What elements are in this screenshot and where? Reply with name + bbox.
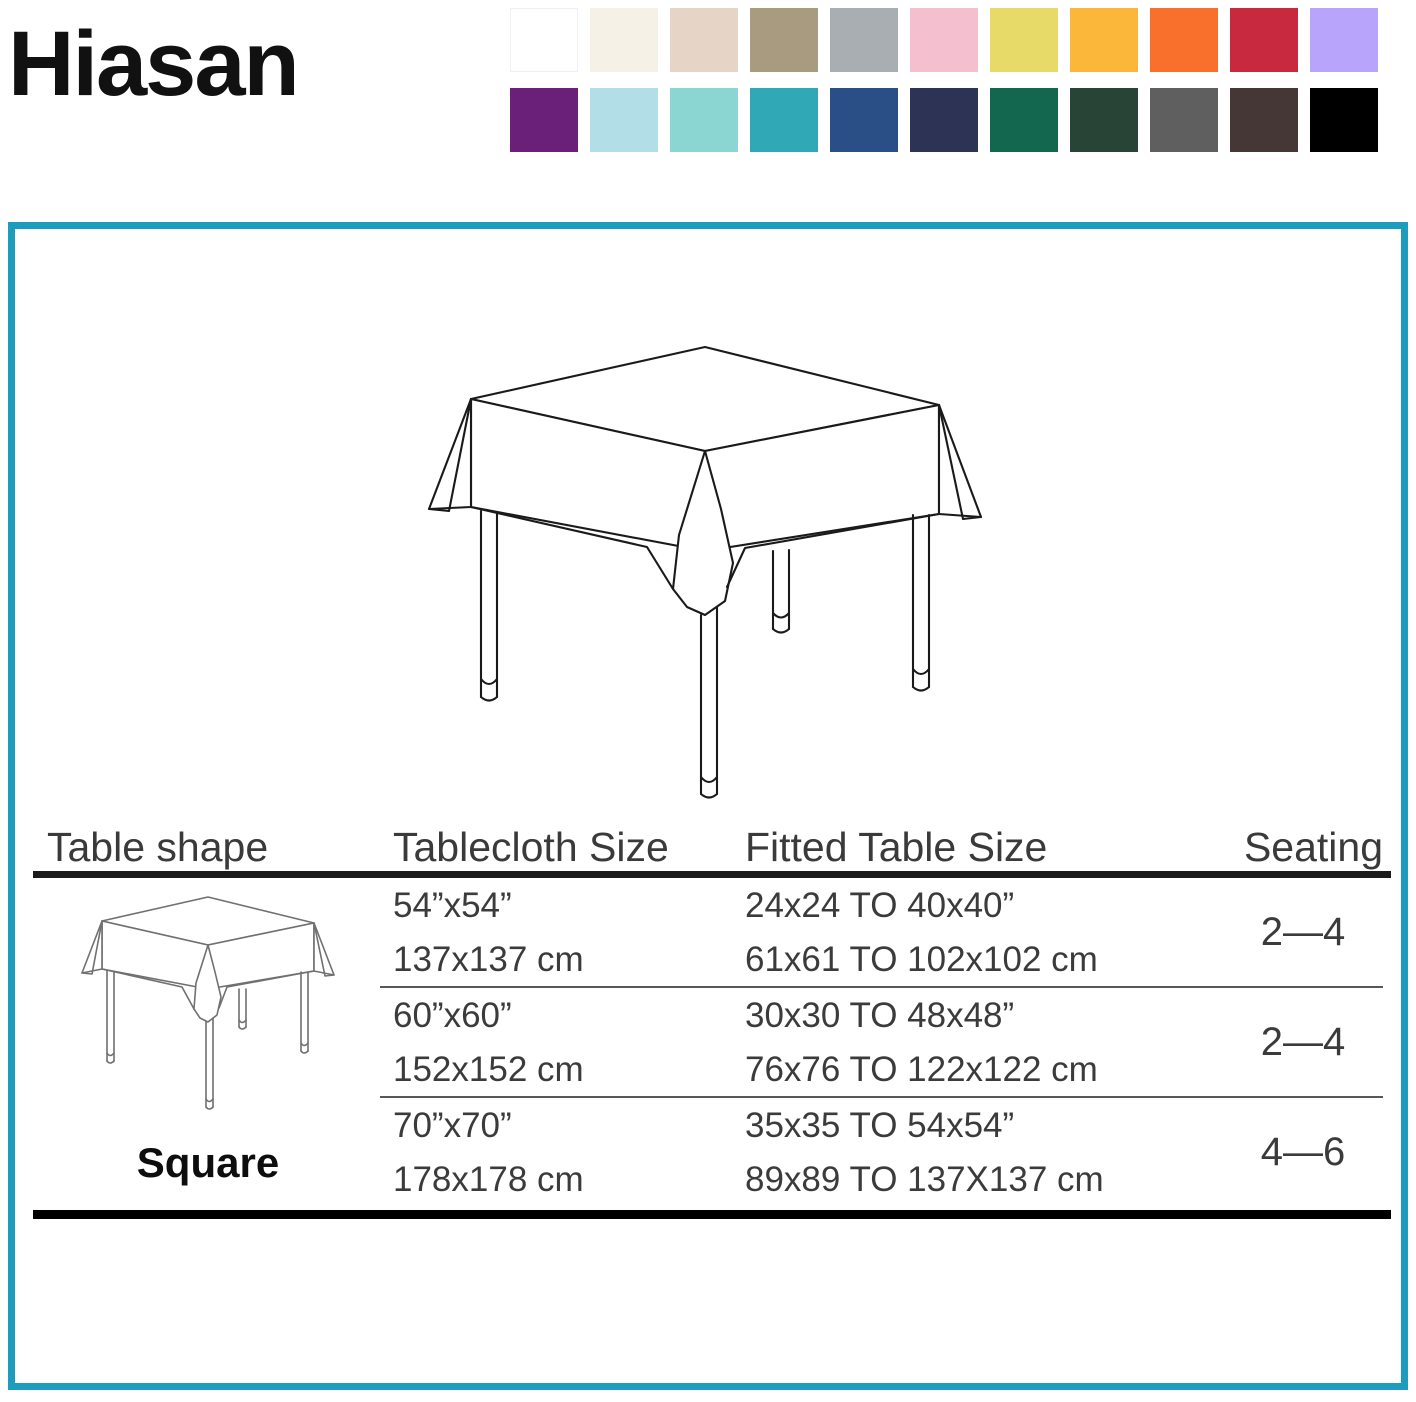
column-header-table-shape: Table shape [47,824,268,871]
color-swatch-hunter-green[interactable] [1070,88,1138,152]
cell-fitted-table-size: 35x35 TO 54x54”89x89 TO 137X137 cm [745,1104,1205,1204]
swatch-row-1 [510,8,1410,72]
table-row: 54”x54”137x137 cm24x24 TO 40x40”61x61 TO… [33,878,1391,986]
color-swatch-lavender[interactable] [1310,8,1378,72]
color-swatch-teal[interactable] [750,88,818,152]
table-header-divider [33,871,1391,878]
tablecloth-size-cm: 137x137 cm [393,940,584,980]
color-swatch-light-yellow[interactable] [990,8,1058,72]
table-body: Square 54”x54”137x137 cm24x24 TO 40x40”6… [33,878,1391,1210]
size-spec-table: Table shape Tablecloth Size Fitted Table… [33,809,1391,1219]
color-swatch-aqua[interactable] [670,88,738,152]
tablecloth-size-cm: 152x152 cm [393,1050,584,1090]
table-rows-host: 54”x54”137x137 cm24x24 TO 40x40”61x61 TO… [33,878,1391,1210]
color-swatch-orange[interactable] [1150,8,1218,72]
fitted-size-inches: 24x24 TO 40x40” [745,886,1014,926]
color-swatch-espresso-brown[interactable] [1230,88,1298,152]
square-table-with-draped-tablecloth-icon [415,339,995,809]
color-swatch-emerald-green[interactable] [990,88,1058,152]
color-swatch-white[interactable] [510,8,578,72]
header-bar: Hiasan [0,0,1416,200]
tablecloth-size-inches: 60”x60” [393,996,512,1036]
color-swatch-black[interactable] [1310,88,1378,152]
table-header-row: Table shape Tablecloth Size Fitted Table… [33,809,1391,871]
table-row: 70”x70”178x178 cm35x35 TO 54x54”89x89 TO… [33,1098,1391,1210]
color-swatch-baby-blue[interactable] [590,88,658,152]
color-swatch-taupe[interactable] [750,8,818,72]
brand-logo: Hiasan [8,18,298,110]
tablecloth-size-inches: 70”x70” [393,1106,512,1146]
column-header-fitted-table-size: Fitted Table Size [745,824,1047,871]
fitted-size-cm: 61x61 TO 102x102 cm [745,940,1098,980]
color-swatch-purple[interactable] [510,88,578,152]
fitted-size-inches: 35x35 TO 54x54” [745,1106,1014,1146]
cell-tablecloth-size: 70”x70”178x178 cm [393,1104,733,1204]
swatch-row-2 [510,88,1410,152]
color-swatch-red[interactable] [1230,8,1298,72]
cell-fitted-table-size: 24x24 TO 40x40”61x61 TO 102x102 cm [745,884,1205,984]
fitted-size-inches: 30x30 TO 48x48” [745,996,1014,1036]
color-swatch-blush-pink[interactable] [910,8,978,72]
column-header-seating: Seating [1244,824,1383,871]
color-swatch-navy-blue[interactable] [830,88,898,152]
info-panel-frame: Table shape Tablecloth Size Fitted Table… [8,222,1408,1390]
color-swatch-grid [510,8,1410,168]
color-swatch-ivory[interactable] [590,8,658,72]
cell-seating: 2—4 [1218,878,1388,986]
cell-tablecloth-size: 60”x60”152x152 cm [393,994,733,1094]
fitted-size-cm: 89x89 TO 137X137 cm [745,1160,1104,1200]
tablecloth-size-inches: 54”x54” [393,886,512,926]
color-swatch-dark-gray[interactable] [1150,88,1218,152]
color-swatch-gold-yellow[interactable] [1070,8,1138,72]
square-table-illustration [415,339,995,809]
color-swatch-midnight-navy[interactable] [910,88,978,152]
table-row: 60”x60”152x152 cm30x30 TO 48x48”76x76 TO… [33,988,1391,1096]
cell-seating: 4—6 [1218,1098,1388,1206]
color-swatch-beige[interactable] [670,8,738,72]
tablecloth-size-cm: 178x178 cm [393,1160,584,1200]
cell-seating: 2—4 [1218,988,1388,1096]
color-swatch-silver-gray[interactable] [830,8,898,72]
cell-tablecloth-size: 54”x54”137x137 cm [393,884,733,984]
fitted-size-cm: 76x76 TO 122x122 cm [745,1050,1098,1090]
cell-fitted-table-size: 30x30 TO 48x48”76x76 TO 122x122 cm [745,994,1205,1094]
column-header-tablecloth-size: Tablecloth Size [393,824,669,871]
